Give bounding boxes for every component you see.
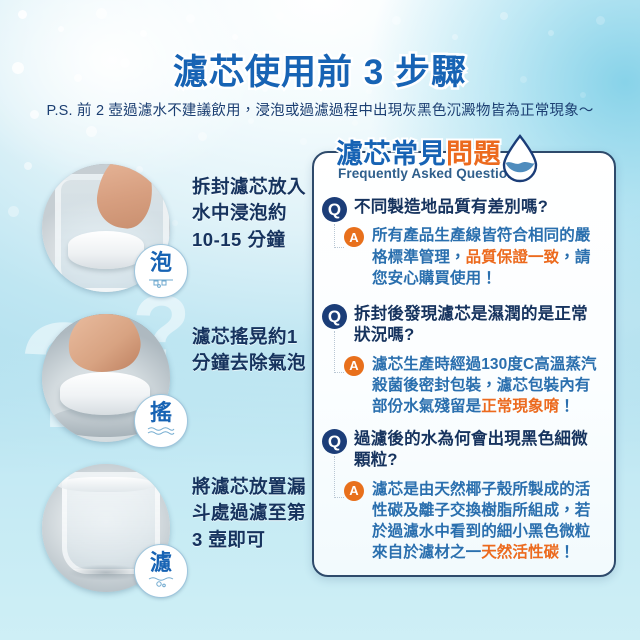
faq-heading-main: 濾芯常見	[336, 139, 446, 169]
faq-question-row-1: Q 不同製造地品質有差別嗎?	[314, 197, 614, 218]
waves-icon	[147, 425, 175, 437]
faq-item-2[interactable]: Q 拆封後發現濾芯是濕潤的是正常狀況嗎? A 濾芯生產時經過130度C高溫蒸汽殺…	[314, 304, 614, 417]
faq-answer-1: 所有產品生產線皆符合相同的嚴格標準管理，品質保證一致，請您安心購買使用！	[372, 227, 590, 286]
water-drop-icon	[500, 133, 540, 183]
steps-list: 泡 拆封濾芯放入水中浸泡約 10-15 分鐘	[16, 160, 312, 620]
droplets-icon	[147, 575, 175, 587]
pitcher-lip-shape	[57, 477, 154, 492]
faq-question-2: 拆封後發現濾芯是濕潤的是正常狀況嗎?	[354, 305, 588, 344]
step-badge-label: 濾	[150, 552, 172, 574]
step-description-2: 濾芯搖晃約1 分鐘去除氣泡	[192, 324, 312, 377]
answer-text-highlight: 品質保證一致	[466, 249, 560, 266]
hand-shape	[63, 314, 144, 379]
faq-item-3[interactable]: Q 過濾後的水為何會出現黑色細微顆粒? A 濾芯是由天然椰子殼所製成的活性碳及離…	[314, 429, 614, 563]
answer-marker-icon: A	[344, 481, 364, 501]
faq-subheading: Frequently Asked Question	[338, 166, 516, 181]
faq-card: Q 不同製造地品質有差別嗎? A 所有產品生產線皆符合相同的嚴格標準管理，品質保…	[312, 151, 616, 577]
question-marker-icon: Q	[322, 304, 347, 329]
answer-text-highlight: 天然活性碳	[481, 544, 559, 561]
question-marker-icon: Q	[322, 197, 347, 222]
page-note: P.S. 前 2 壺過濾水不建議飲用，浸泡或過濾過程中出現灰黑色沉澱物皆為正常現…	[0, 99, 640, 120]
faq-question-1: 不同製造地品質有差別嗎?	[354, 198, 548, 216]
faq-answer-3: 濾芯是由天然椰子殼所製成的活性碳及離子交換樹脂所組成，若於過濾水中看到的細小黑色…	[372, 481, 590, 561]
faq-item-1[interactable]: Q 不同製造地品質有差別嗎? A 所有產品生產線皆符合相同的嚴格標準管理，品質保…	[314, 197, 614, 289]
page-title: 濾芯使用前 3 步驟	[0, 44, 640, 95]
step-badge-shake: 搖	[134, 394, 188, 448]
faq-heading-highlight: 問題	[446, 139, 501, 169]
answer-text-post: ！	[559, 544, 575, 561]
faq-answer-row-1: A 所有產品生產線皆符合相同的嚴格標準管理，品質保證一致，請您安心購買使用！	[314, 225, 614, 288]
filter-disc-shape	[68, 231, 145, 269]
step-badge-label: 泡	[150, 252, 172, 274]
answer-marker-icon: A	[344, 227, 364, 247]
faq-question-row-2: Q 拆封後發現濾芯是濕潤的是正常狀況嗎?	[314, 304, 614, 347]
bubbles-icon	[148, 275, 174, 287]
faq-answer-2: 濾芯生產時經過130度C高溫蒸汽殺菌後密封包裝，濾芯包裝內有部份水氣殘留是正常現…	[372, 356, 597, 415]
step-description-3: 將濾芯放置漏斗處過濾至第 3 壺即可	[192, 474, 312, 553]
step-item-3: 濾 將濾芯放置漏斗處過濾至第 3 壺即可	[16, 460, 312, 620]
faq-question-row-3: Q 過濾後的水為何會出現黑色細微顆粒?	[314, 429, 614, 472]
step-item-1: 泡 拆封濾芯放入水中浸泡約 10-15 分鐘	[16, 160, 312, 310]
faq-answer-row-3: A 濾芯是由天然椰子殼所製成的活性碳及離子交換樹脂所組成，若於過濾水中看到的細小…	[314, 479, 614, 563]
answer-text-post: ！	[559, 398, 575, 415]
question-marker-icon: Q	[322, 429, 347, 454]
faq-question-3: 過濾後的水為何會出現黑色細微顆粒?	[354, 430, 588, 469]
step-badge-soak: 泡	[134, 244, 188, 298]
step-item-2: 搖 濾芯搖晃約1 分鐘去除氣泡	[16, 310, 312, 460]
step-badge-filter: 濾	[134, 544, 188, 598]
poster-root: ? ? 濾芯使用前 3 步驟 P.S. 前 2 壺過濾水不建議飲用，浸泡或過濾過…	[0, 0, 640, 640]
answer-text-highlight: 正常現象唷	[481, 398, 559, 415]
faq-answer-row-2: A 濾芯生產時經過130度C高溫蒸汽殺菌後密封包裝，濾芯包裝內有部份水氣殘留是正…	[314, 354, 614, 417]
step-description-1: 拆封濾芯放入水中浸泡約 10-15 分鐘	[192, 174, 312, 253]
answer-marker-icon: A	[344, 356, 364, 376]
step-badge-label: 搖	[150, 402, 172, 424]
